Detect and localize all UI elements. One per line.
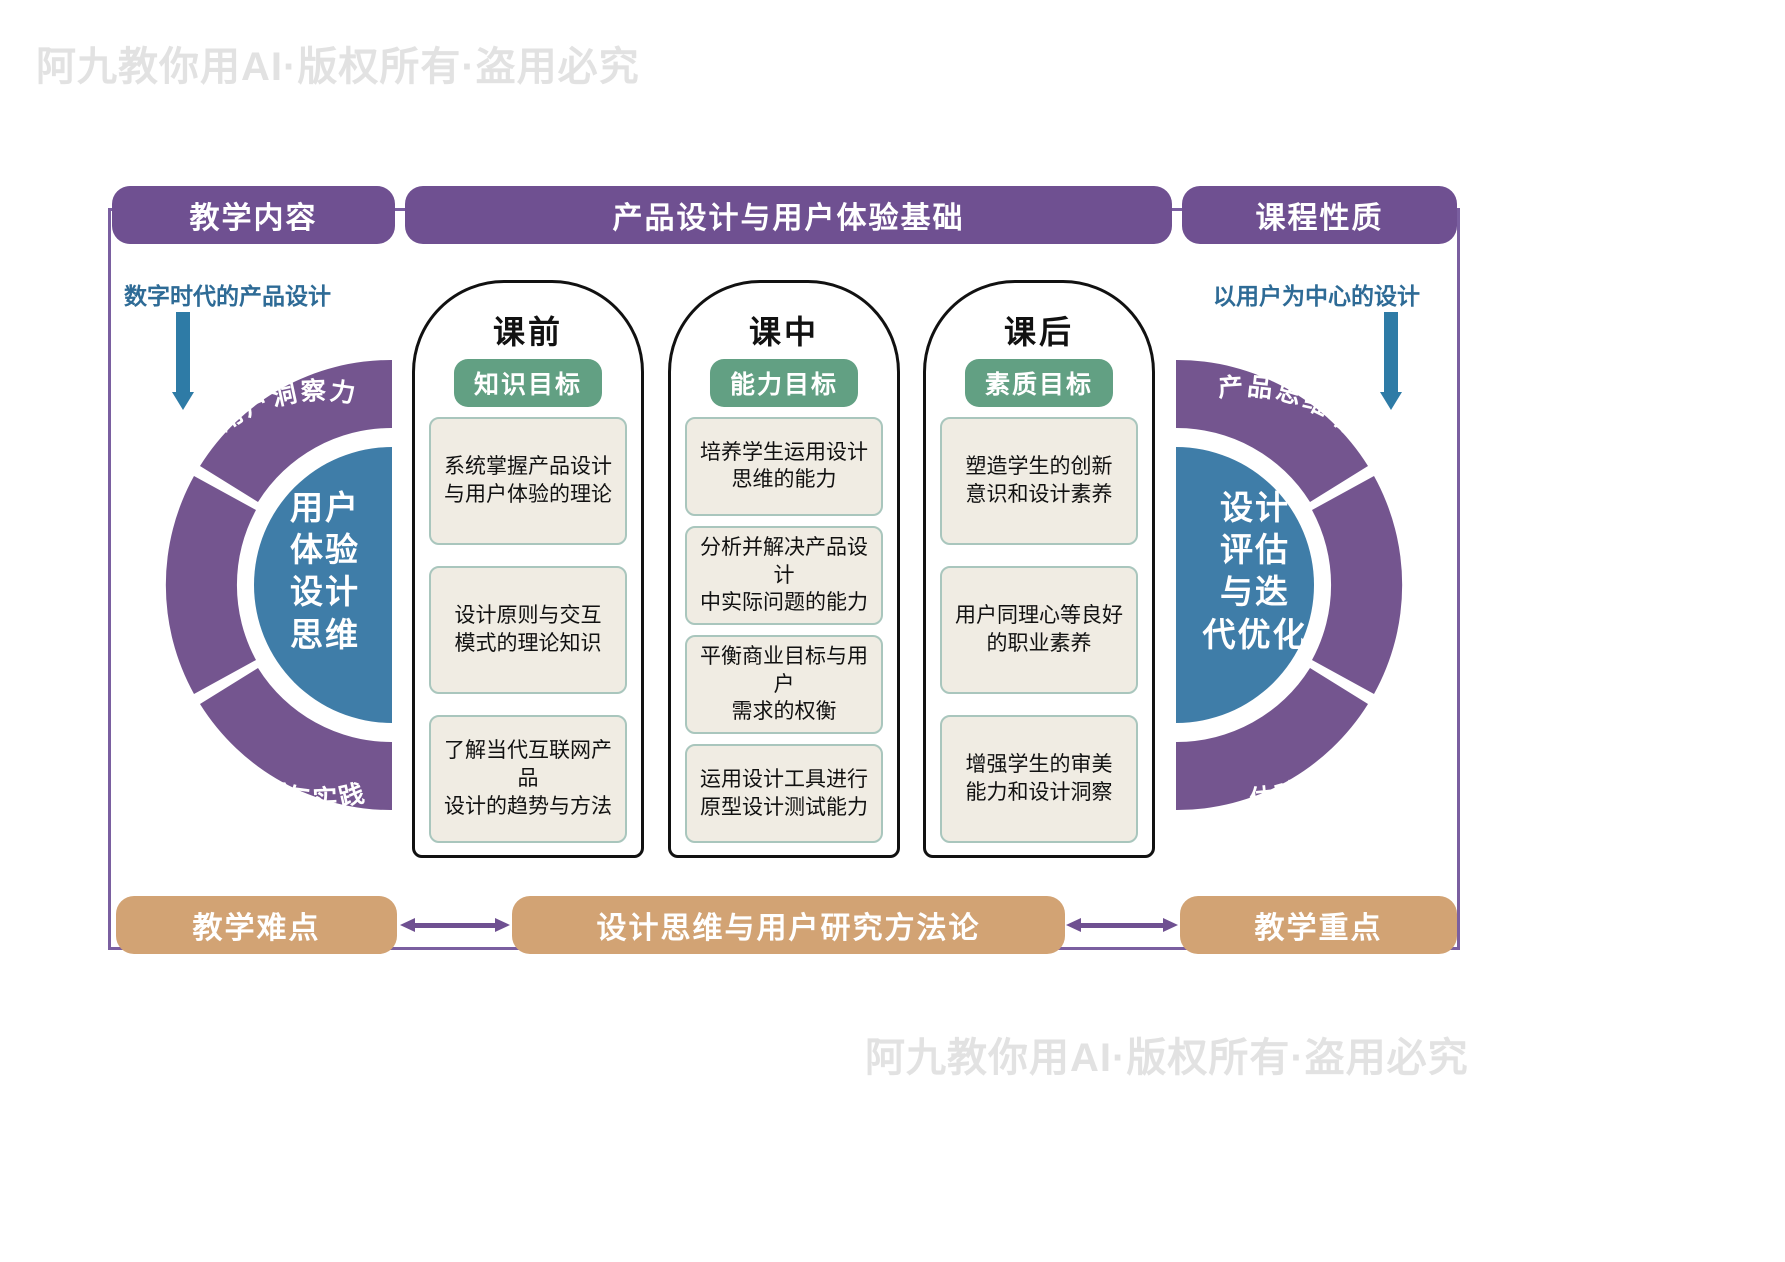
list-item[interactable]: 设计原则与交互模式的理论知识 (429, 566, 627, 694)
list-item[interactable]: 运用设计工具进行原型设计测试能力 (685, 744, 883, 843)
footer-bar-methodology: 设计思维与用户研究方法论 (512, 896, 1065, 954)
watermark-top: 阿九教你用AI·版权所有·盗用必究 (36, 34, 640, 92)
stage-column-in-class: 课中 能力目标 培养学生运用设计思维的能力 分析并解决产品设计中实际问题的能力 … (668, 280, 900, 858)
stage-card-list: 系统掌握产品设计与用户体验的理论 设计原则与交互模式的理论知识 了解当代互联网产… (429, 417, 627, 843)
header-pill-course-title: 产品设计与用户体验基础 (405, 186, 1172, 244)
footer-bar-difficulty: 教学难点 (116, 896, 397, 954)
stage-column-pre-class: 课前 知识目标 系统掌握产品设计与用户体验的理论 设计原则与交互模式的理论知识 … (412, 280, 644, 858)
list-item[interactable]: 用户同理心等良好的职业素养 (940, 566, 1138, 694)
annotation-left-label: 数字时代的产品设计 (124, 277, 331, 311)
header-pill-course-nature: 课程性质 (1182, 186, 1457, 244)
list-item[interactable]: 分析并解决产品设计中实际问题的能力 (685, 526, 883, 625)
list-item[interactable]: 塑造学生的创新意识和设计素养 (940, 417, 1138, 545)
list-item[interactable]: 培养学生运用设计思维的能力 (685, 417, 883, 516)
stage-goal-badge: 能力目标 (710, 359, 858, 407)
stage-goal-badge: 素质目标 (965, 359, 1113, 407)
double-arrow-icon-right (1066, 918, 1178, 932)
stage-card-list: 塑造学生的创新意识和设计素养 用户同理心等良好的职业素养 增强学生的审美能力和设… (940, 417, 1138, 843)
stage-title: 课前 (415, 307, 641, 353)
list-item[interactable]: 系统掌握产品设计与用户体验的理论 (429, 417, 627, 545)
left-wheel-core-text: 用户体验设计思维 (250, 487, 400, 656)
watermark-bottom: 阿九教你用AI·版权所有·盗用必究 (865, 1025, 1469, 1083)
stage-card-list: 培养学生运用设计思维的能力 分析并解决产品设计中实际问题的能力 平衡商业目标与用… (685, 417, 883, 843)
left-arc-label-2: 设计的基本原则 (128, 509, 151, 715)
header-pill-teaching-content: 教学内容 (112, 186, 395, 244)
stage-title: 课中 (671, 307, 897, 353)
list-item[interactable]: 平衡商业目标与用户需求的权衡 (685, 635, 883, 734)
stage-column-post-class: 课后 素质目标 塑造学生的创新意识和设计素养 用户同理心等良好的职业素养 增强学… (923, 280, 1155, 858)
right-wheel-core-text: 设计评估与迭代优化 (1180, 487, 1330, 656)
list-item[interactable]: 增强学生的审美能力和设计洞察 (940, 715, 1138, 843)
stage-goal-badge: 知识目标 (454, 359, 602, 407)
list-item[interactable]: 了解当代互联网产品设计的趋势与方法 (429, 715, 627, 843)
footer-bar-key-point: 教学重点 (1180, 896, 1457, 954)
stage-title: 课后 (926, 307, 1152, 353)
double-arrow-icon-left (400, 918, 510, 932)
annotation-right-label: 以用户为中心的设计 (1213, 277, 1420, 311)
